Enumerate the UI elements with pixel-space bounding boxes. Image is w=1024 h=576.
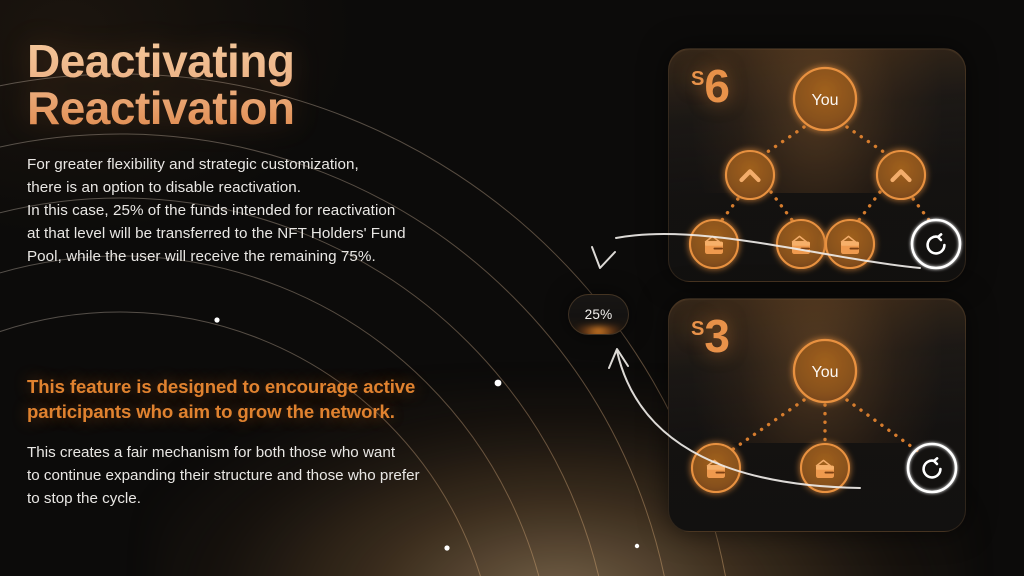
highlight-line-1: This feature is designed to encourage ac…: [27, 375, 547, 400]
node-chevron-left[interactable]: [726, 151, 774, 199]
node-you-label: You: [812, 364, 839, 381]
node-wallet-3[interactable]: [826, 220, 874, 268]
highlight-line-2: participants who aim to grow the network…: [27, 400, 547, 425]
slide-root: Deactivating Reactivation For greater fl…: [0, 0, 1024, 576]
intro-text: For greater flexibility and strategic cu…: [27, 153, 547, 268]
node-wallet-1[interactable]: [692, 444, 740, 492]
node-reactivation-disabled[interactable]: [912, 220, 960, 268]
closing-line-2: to continue expanding their structure an…: [27, 464, 547, 487]
reactivation-icon: [924, 458, 941, 477]
node-you[interactable]: You: [794, 68, 856, 130]
node-wallet-1[interactable]: [690, 220, 738, 268]
node-wallet-2[interactable]: [777, 220, 825, 268]
node-you-label: You: [812, 92, 839, 109]
node-wallet-2[interactable]: [801, 444, 849, 492]
node-you[interactable]: You: [794, 340, 856, 402]
reactivation-icon: [928, 234, 945, 253]
percent-badge[interactable]: 25%: [568, 294, 629, 335]
title-line-1: Deactivating: [27, 38, 547, 85]
level-card-s6[interactable]: S6 You: [668, 48, 966, 282]
title-line-2: Reactivation: [27, 85, 547, 132]
percent-badge-label: 25%: [585, 307, 613, 322]
highlight-paragraph: This feature is designed to encourage ac…: [27, 375, 547, 424]
intro-paragraph: For greater flexibility and strategic cu…: [27, 153, 547, 268]
text-column: Deactivating Reactivation For greater fl…: [27, 38, 547, 268]
node-reactivation-disabled[interactable]: [908, 444, 956, 492]
arrow-down-left-icon: [592, 247, 615, 268]
closing-line-1: This creates a fair mechanism for both t…: [27, 441, 547, 464]
closing-paragraph: This creates a fair mechanism for both t…: [27, 441, 547, 510]
arrow-up-icon: [609, 349, 628, 368]
tree-diagram-s6: You: [669, 49, 966, 282]
tree-diagram-s3: You: [669, 299, 966, 532]
level-card-s3[interactable]: S3 You: [668, 298, 966, 532]
node-chevron-right[interactable]: [877, 151, 925, 199]
closing-line-3: to stop the cycle.: [27, 487, 547, 510]
page-title: Deactivating Reactivation: [27, 38, 547, 133]
